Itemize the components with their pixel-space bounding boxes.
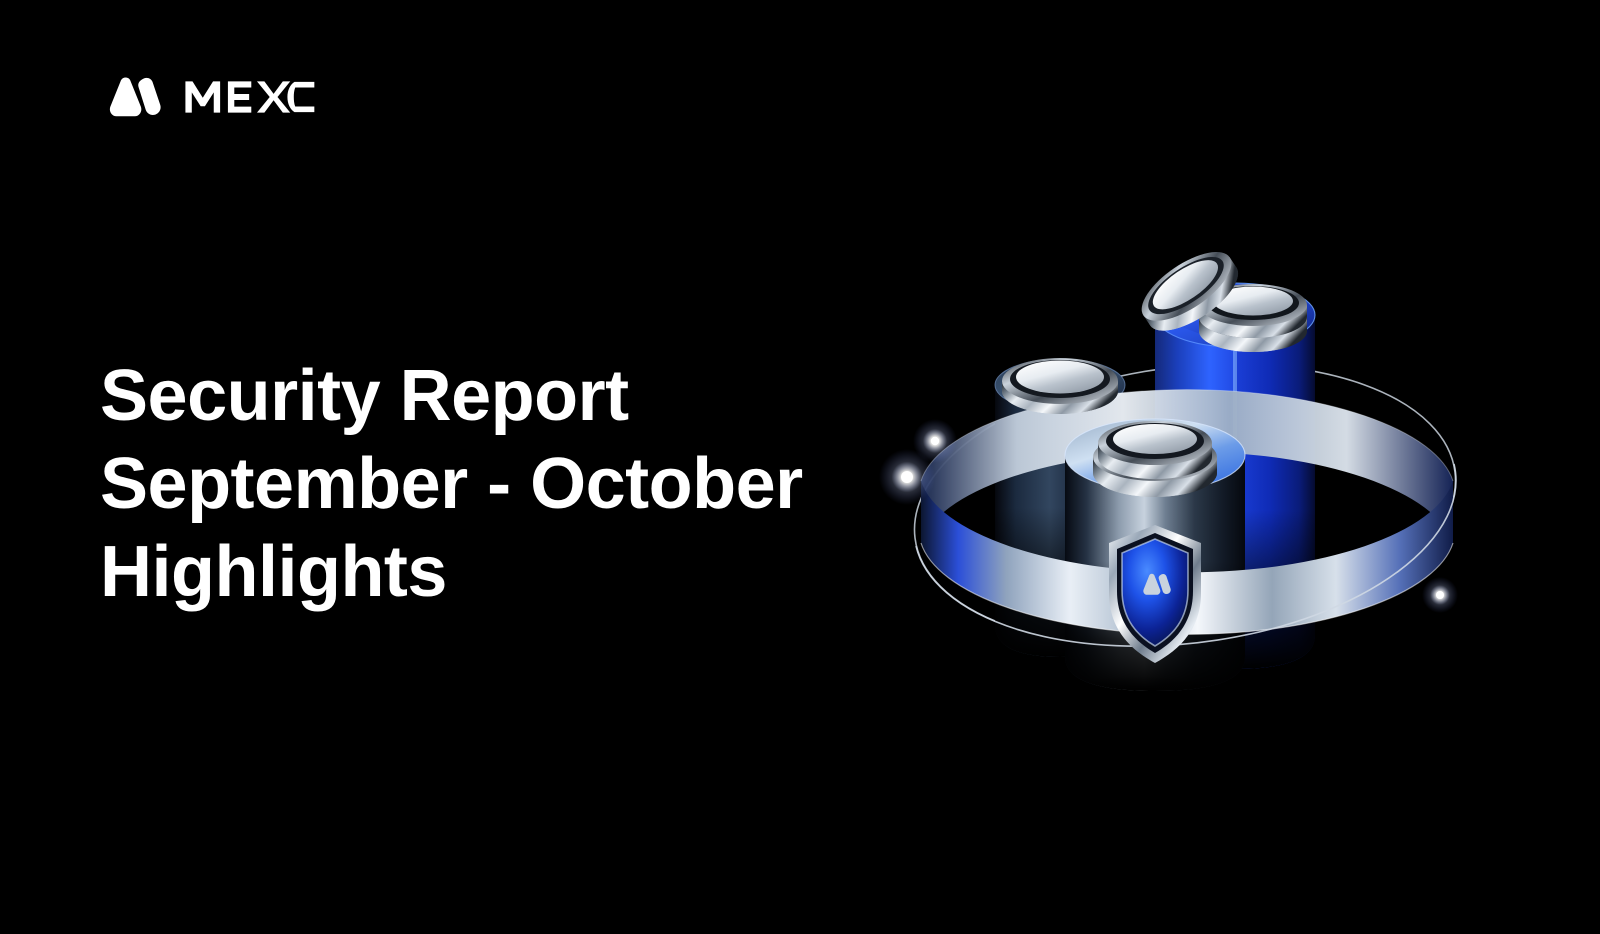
vault-cylinders-illustration	[855, 205, 1515, 725]
security-report-banner: Security Report September - October High…	[0, 0, 1600, 934]
mexc-wordmark	[184, 80, 316, 114]
headline-line-1: Security Report	[100, 352, 900, 440]
page-title: Security Report September - October High…	[100, 352, 900, 616]
mexc-logo-mark-icon	[100, 76, 162, 118]
headline-line-2: September - October	[100, 440, 900, 528]
mexc-brand-lockup[interactable]	[100, 68, 316, 126]
coin-stack-back-left	[1002, 358, 1118, 414]
orbit-dot-lower-right	[1422, 577, 1458, 613]
hero-illustration	[855, 205, 1515, 725]
coin-stack-front	[1093, 421, 1217, 497]
orbit-dot-mid-left	[879, 449, 935, 505]
headline-line-3: Highlights	[100, 528, 900, 616]
